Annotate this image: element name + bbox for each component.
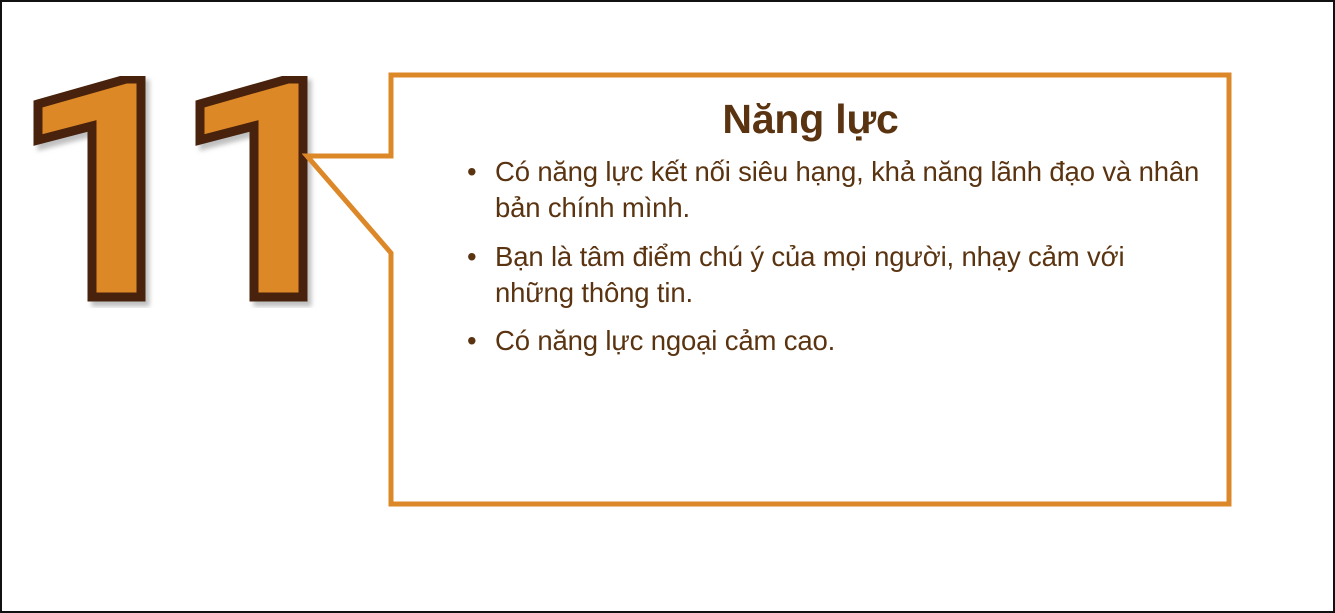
list-item-text: Có năng lực ngoại cảm cao. xyxy=(495,325,835,356)
bullet-marker-icon: • xyxy=(467,239,476,275)
numeral-digit-one-second xyxy=(200,79,303,297)
slide-number-graphic: 11 xyxy=(30,76,320,308)
list-item: • Có năng lực kết nối siêu hạng, khả năn… xyxy=(467,154,1204,226)
slide-canvas: 11 Năng lực • Có năng lực kết nối siêu h… xyxy=(0,0,1335,613)
callout-content: Năng lực • Có năng lực kết nối siêu hạng… xyxy=(391,72,1232,512)
list-item: • Bạn là tâm điểm chú ý của mọi người, n… xyxy=(467,239,1204,311)
callout-box: Năng lực • Có năng lực kết nối siêu hạng… xyxy=(302,72,1232,512)
bullet-marker-icon: • xyxy=(467,323,476,359)
callout-title: Năng lực xyxy=(419,97,1210,141)
list-item-text: Bạn là tâm điểm chú ý của mọi người, nhạ… xyxy=(495,241,1124,308)
list-item: • Có năng lực ngoại cảm cao. xyxy=(467,323,1204,359)
capability-bullet-list: • Có năng lực kết nối siêu hạng, khả năn… xyxy=(419,154,1210,359)
numeral-11-icon xyxy=(30,76,320,308)
numeral-digit-one-first xyxy=(38,79,141,297)
list-item-text: Có năng lực kết nối siêu hạng, khả năng … xyxy=(495,156,1199,223)
bullet-marker-icon: • xyxy=(467,154,476,190)
